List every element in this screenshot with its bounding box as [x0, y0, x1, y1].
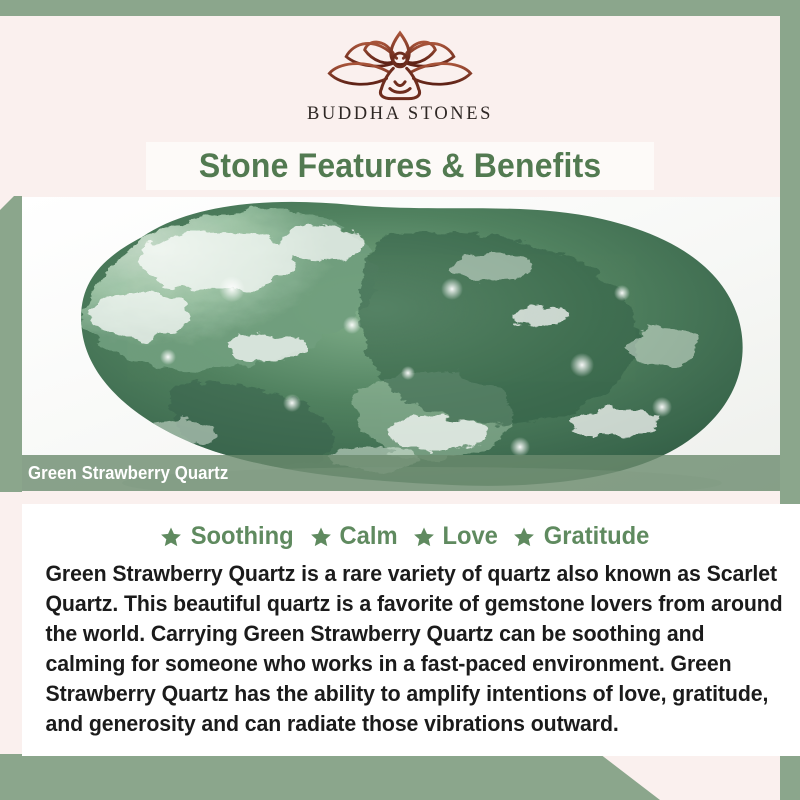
keyword-label: Gratitude: [544, 522, 650, 551]
star-icon: [310, 526, 332, 548]
frame-bottom-bar: [0, 754, 660, 800]
stone-photo: Green Strawberry Quartz: [22, 197, 780, 491]
photo-caption-text: Green Strawberry Quartz: [28, 463, 228, 484]
page-title: Stone Features & Benefits: [199, 147, 602, 186]
frame-left-accent: [0, 196, 22, 492]
keyword-item: Calm: [310, 522, 399, 551]
star-icon: [513, 526, 535, 548]
description-text: Green Strawberry Quartz is a rare variet…: [34, 559, 784, 739]
title-banner: Stone Features & Benefits: [146, 142, 654, 190]
photo-caption: Green Strawberry Quartz: [22, 455, 780, 491]
keyword-item: Gratitude: [513, 522, 652, 551]
keyword-list: Soothing Calm Love Gratitude: [34, 522, 778, 551]
brand-name: BUDDHA STONES: [307, 104, 493, 125]
star-icon: [413, 526, 435, 548]
keyword-label: Love: [442, 522, 497, 551]
keyword-item: Love: [413, 522, 499, 551]
brand-header: BUDDHA STONES: [0, 16, 800, 143]
frame-top-bar: [0, 0, 800, 16]
content-panel: Soothing Calm Love Gratitude: [22, 504, 800, 756]
infographic-page: BUDDHA STONES Stone Features & Benefits: [0, 0, 800, 800]
star-icon: [160, 526, 182, 548]
lotus-meditation-figure-icon: [315, 28, 485, 102]
raw-green-quartz-stone-photo: [22, 197, 780, 491]
keyword-label: Calm: [339, 522, 397, 551]
keyword-label: Soothing: [190, 522, 293, 551]
keyword-item: Soothing: [160, 522, 296, 551]
